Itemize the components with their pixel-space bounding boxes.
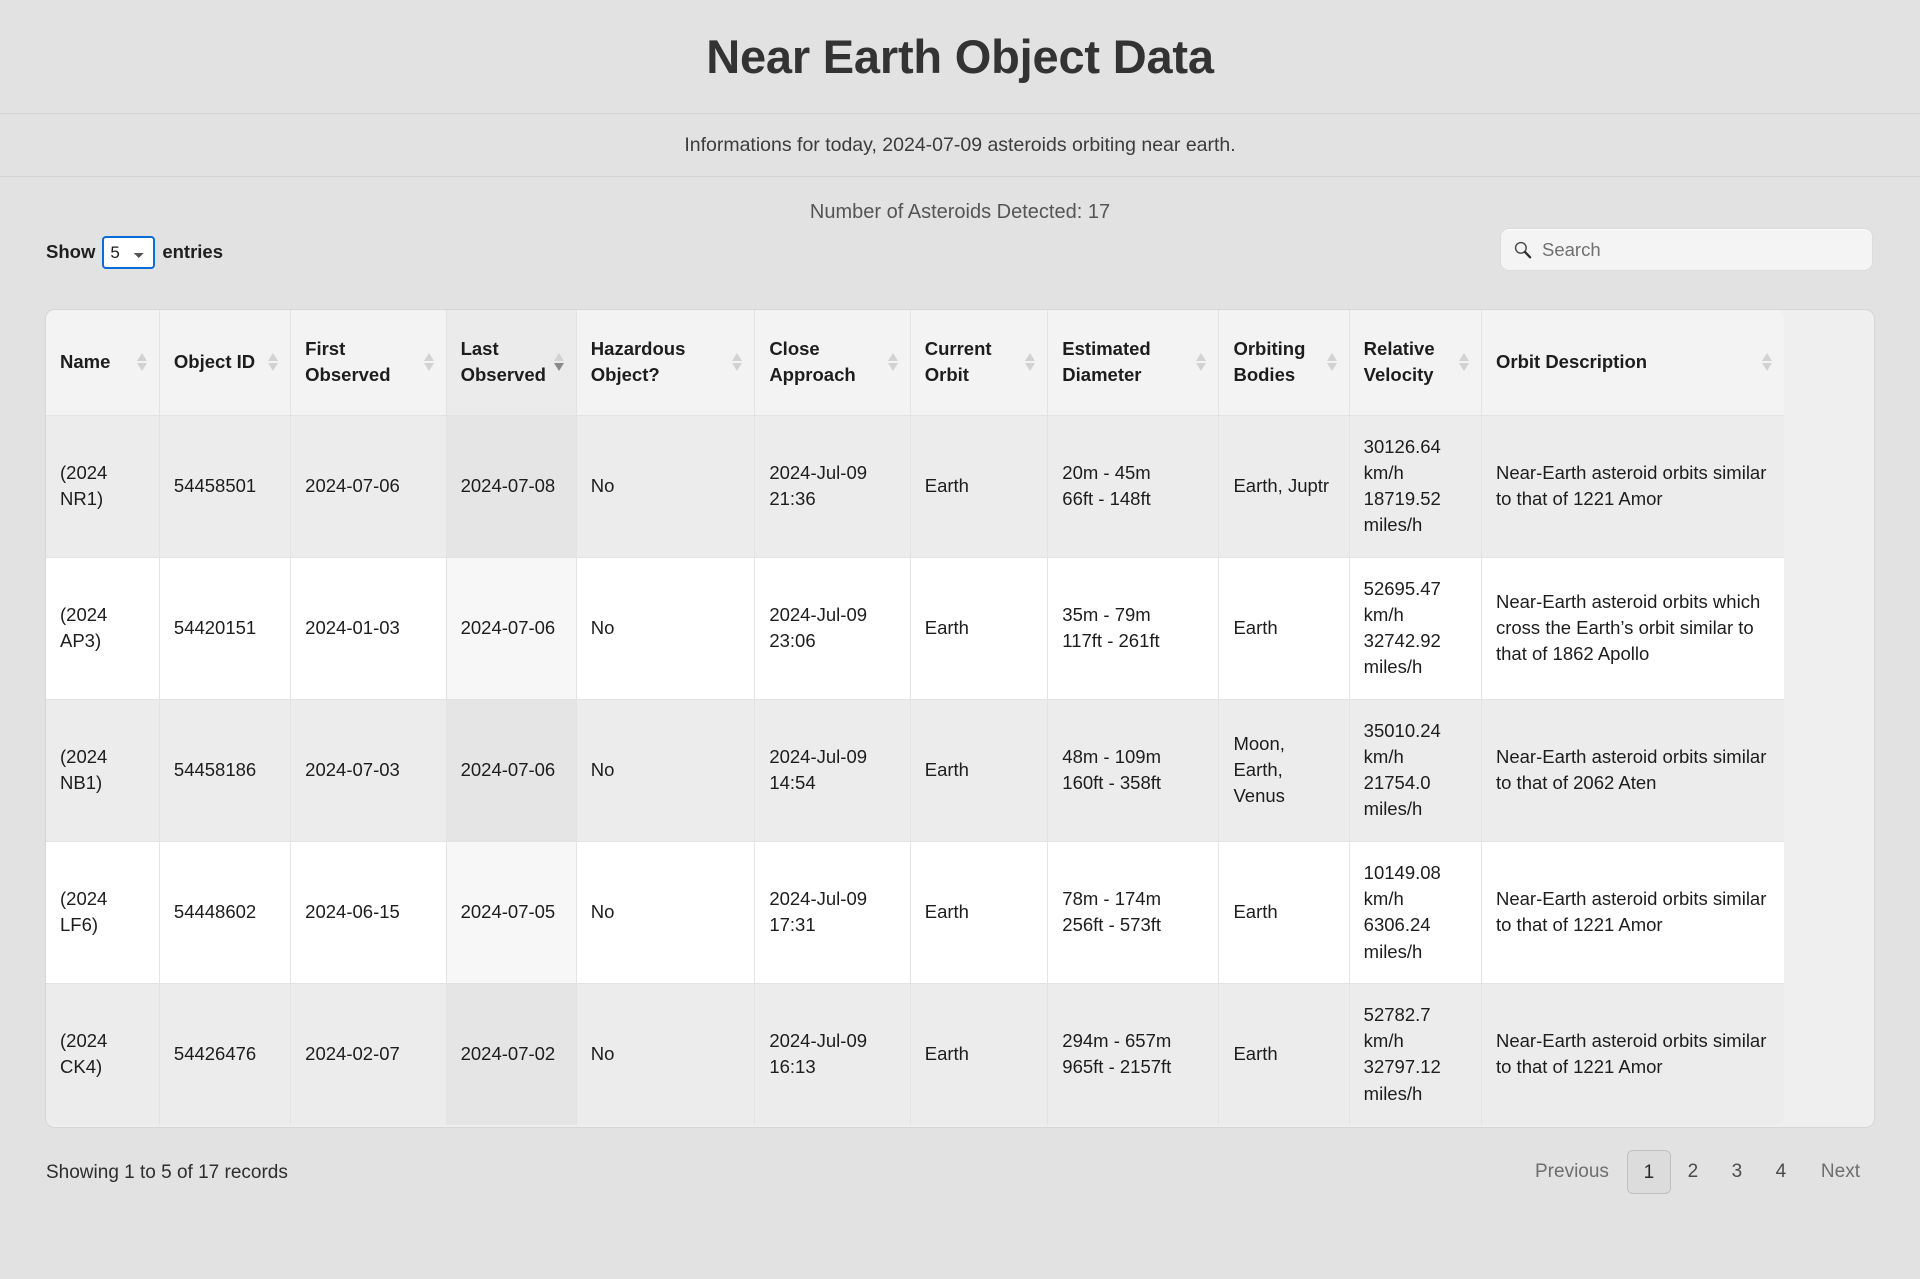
cell-orbit-description: Near-Earth asteroid orbits similar to th…	[1481, 841, 1784, 983]
cell-close-approach-line: 17:31	[769, 912, 895, 938]
records-info: Showing 1 to 5 of 17 records	[46, 1162, 288, 1184]
sort-indicator-icon	[424, 353, 435, 371]
cell-orbit-description: Near-Earth asteroid orbits similar to th…	[1481, 415, 1784, 557]
sort-indicator-icon	[888, 353, 899, 371]
cell-relative-velocity-lines: 30126.64km/h18719.52miles/h	[1364, 434, 1467, 539]
cell-current-orbit: Earth	[910, 983, 1048, 1125]
cell-first-observed: 2024-02-07	[291, 983, 446, 1125]
cell-estimated-diameter: 78m - 174m256ft - 573ft	[1048, 841, 1219, 983]
cell-close-approach-line: 23:06	[769, 628, 895, 654]
cell-relative-velocity-line: km/h	[1364, 1028, 1467, 1054]
pagination-page-4[interactable]: 4	[1759, 1150, 1803, 1194]
cell-relative-velocity: 52695.47km/h32742.92miles/h	[1349, 557, 1481, 699]
cell-relative-velocity-line: 52782.7	[1364, 1002, 1467, 1028]
cell-relative-velocity-line: 18719.52	[1364, 486, 1467, 512]
cell-estimated-diameter-line: 256ft - 573ft	[1062, 912, 1204, 938]
cell-close-approach-line: 16:13	[769, 1054, 895, 1080]
column-label: Orbiting Bodies	[1233, 338, 1305, 385]
column-label: Last Observed	[461, 338, 546, 385]
cell-orbit-description: Near-Earth asteroid orbits which cross t…	[1481, 557, 1784, 699]
cell-close-approach-line: 21:36	[769, 486, 895, 512]
cell-orbiting-bodies: Earth	[1219, 557, 1349, 699]
cell-estimated-diameter-line: 160ft - 358ft	[1062, 770, 1204, 796]
cell-close-approach-line: 2024-Jul-09	[769, 460, 895, 486]
column-label: Orbit Description	[1496, 351, 1647, 372]
column-header-name[interactable]: Name	[46, 310, 159, 415]
table-row: (2024 NR1)544585012024-07-062024-07-08No…	[46, 415, 1784, 557]
cell-current-orbit: Earth	[910, 841, 1048, 983]
cell-close-approach-line: 2024-Jul-09	[769, 744, 895, 770]
cell-close-approach: 2024-Jul-0923:06	[755, 557, 910, 699]
cell-first-observed: 2024-06-15	[291, 841, 446, 983]
cell-last-observed: 2024-07-02	[446, 983, 576, 1125]
cell-close-approach: 2024-Jul-0916:13	[755, 983, 910, 1125]
cell-relative-velocity-line: 10149.08	[1364, 860, 1467, 886]
page-subheader: Informations for today, 2024-07-09 aster…	[0, 114, 1920, 177]
cell-relative-velocity-line: km/h	[1364, 602, 1467, 628]
cell-close-approach-lines: 2024-Jul-0917:31	[769, 886, 895, 939]
table-row: (2024 LF6)544486022024-06-152024-07-05No…	[46, 841, 1784, 983]
pagination-page-2[interactable]: 2	[1671, 1150, 1715, 1194]
cell-last-observed: 2024-07-08	[446, 415, 576, 557]
column-label: Object ID	[174, 351, 255, 372]
asteroid-count: Number of Asteroids Detected: 17	[0, 177, 1920, 224]
cell-relative-velocity-line: miles/h	[1364, 796, 1467, 822]
sort-indicator-icon	[1762, 353, 1773, 371]
cell-name: (2024 CK4)	[46, 983, 159, 1125]
cell-orbiting-bodies: Moon, Earth, Venus	[1219, 699, 1349, 841]
cell-close-approach: 2024-Jul-0917:31	[755, 841, 910, 983]
cell-name: (2024 NB1)	[46, 699, 159, 841]
pagination-page-3[interactable]: 3	[1715, 1150, 1759, 1194]
column-label: Hazardous Object?	[591, 338, 686, 385]
cell-relative-velocity-lines: 10149.08km/h6306.24miles/h	[1364, 860, 1467, 965]
cell-last-observed: 2024-07-06	[446, 557, 576, 699]
table-header: Name Object ID First Observed Last Obser…	[46, 310, 1784, 415]
table-scroll-container[interactable]: Name Object ID First Observed Last Obser…	[45, 309, 1875, 1128]
cell-object-id: 54458501	[159, 415, 290, 557]
cell-close-approach-line: 2024-Jul-09	[769, 886, 895, 912]
search-input[interactable]	[1540, 238, 1860, 262]
cell-close-approach: 2024-Jul-0914:54	[755, 699, 910, 841]
cell-relative-velocity-line: 32742.92	[1364, 628, 1467, 654]
cell-close-approach: 2024-Jul-0921:36	[755, 415, 910, 557]
page-root: Near Earth Object Data Informations for …	[0, 0, 1920, 1279]
cell-name: (2024 AP3)	[46, 557, 159, 699]
cell-estimated-diameter-line: 35m - 79m	[1062, 602, 1204, 628]
sort-indicator-icon	[732, 353, 743, 371]
search-box[interactable]	[1500, 228, 1873, 271]
cell-close-approach-lines: 2024-Jul-0914:54	[769, 744, 895, 797]
pagination-page-1[interactable]: 1	[1627, 1150, 1671, 1194]
sort-indicator-icon	[1025, 353, 1036, 371]
cell-hazardous: No	[576, 699, 755, 841]
pagination-previous[interactable]: Previous	[1521, 1150, 1627, 1194]
cell-estimated-diameter-line: 294m - 657m	[1062, 1028, 1204, 1054]
cell-first-observed: 2024-01-03	[291, 557, 446, 699]
table-row: (2024 CK4)544264762024-02-072024-07-02No…	[46, 983, 1784, 1125]
cell-relative-velocity-line: km/h	[1364, 744, 1467, 770]
cell-estimated-diameter-lines: 35m - 79m117ft - 261ft	[1062, 602, 1204, 655]
column-header-relative-velocity[interactable]: Relative Velocity	[1349, 310, 1481, 415]
cell-current-orbit: Earth	[910, 699, 1048, 841]
column-header-first-observed[interactable]: First Observed	[291, 310, 446, 415]
column-label: Relative Velocity	[1364, 338, 1435, 385]
page-title: Near Earth Object Data	[706, 29, 1214, 84]
column-header-orbit-description[interactable]: Orbit Description	[1481, 310, 1784, 415]
cell-relative-velocity: 10149.08km/h6306.24miles/h	[1349, 841, 1481, 983]
cell-estimated-diameter-line: 20m - 45m	[1062, 460, 1204, 486]
cell-last-observed: 2024-07-06	[446, 699, 576, 841]
cell-relative-velocity-lines: 35010.24km/h21754.0miles/h	[1364, 718, 1467, 823]
column-label: Estimated Diameter	[1062, 338, 1150, 385]
cell-orbiting-bodies: Earth	[1219, 983, 1349, 1125]
cell-current-orbit: Earth	[910, 557, 1048, 699]
table-body: (2024 NR1)544585012024-07-062024-07-08No…	[46, 415, 1784, 1125]
cell-estimated-diameter: 294m - 657m965ft - 2157ft	[1048, 983, 1219, 1125]
cell-last-observed: 2024-07-05	[446, 841, 576, 983]
column-label: Name	[60, 351, 110, 372]
neo-data-table: Name Object ID First Observed Last Obser…	[46, 310, 1784, 1125]
cell-close-approach-line: 14:54	[769, 770, 895, 796]
cell-orbit-description: Near-Earth asteroid orbits similar to th…	[1481, 699, 1784, 841]
cell-current-orbit: Earth	[910, 415, 1048, 557]
column-header-last-observed[interactable]: Last Observed	[446, 310, 576, 415]
column-label: First Observed	[305, 338, 390, 385]
cell-estimated-diameter-line: 48m - 109m	[1062, 744, 1204, 770]
cell-close-approach-lines: 2024-Jul-0923:06	[769, 602, 895, 655]
page-length-select[interactable]: 5 10 25 50 100	[102, 236, 155, 269]
cell-relative-velocity-line: miles/h	[1364, 654, 1467, 680]
table-row: (2024 NB1)544581862024-07-032024-07-06No…	[46, 699, 1784, 841]
table-footer: Showing 1 to 5 of 17 records Previous 1 …	[0, 1128, 1920, 1214]
search-icon	[1513, 240, 1532, 259]
cell-close-approach-lines: 2024-Jul-0921:36	[769, 460, 895, 513]
cell-object-id: 54448602	[159, 841, 290, 983]
cell-name: (2024 NR1)	[46, 415, 159, 557]
entries-label: entries	[162, 243, 223, 262]
sort-indicator-icon	[1459, 353, 1470, 371]
cell-hazardous: No	[576, 983, 755, 1125]
cell-relative-velocity-lines: 52695.47km/h32742.92miles/h	[1364, 576, 1467, 681]
cell-relative-velocity-line: miles/h	[1364, 512, 1467, 538]
cell-relative-velocity: 52782.7km/h32797.12miles/h	[1349, 983, 1481, 1125]
cell-estimated-diameter-lines: 294m - 657m965ft - 2157ft	[1062, 1028, 1204, 1081]
cell-object-id: 54420151	[159, 557, 290, 699]
table-row: (2024 AP3)544201512024-01-032024-07-06No…	[46, 557, 1784, 699]
cell-estimated-diameter-lines: 78m - 174m256ft - 573ft	[1062, 886, 1204, 939]
column-header-hazardous[interactable]: Hazardous Object?	[576, 310, 755, 415]
cell-relative-velocity-line: km/h	[1364, 886, 1467, 912]
cell-relative-velocity-lines: 52782.7km/h32797.12miles/h	[1364, 1002, 1467, 1107]
page-length-control: Show 5 10 25 50 100 entries	[46, 236, 223, 269]
cell-estimated-diameter-line: 66ft - 148ft	[1062, 486, 1204, 512]
column-header-object-id[interactable]: Object ID	[159, 310, 290, 415]
cell-first-observed: 2024-07-03	[291, 699, 446, 841]
cell-relative-velocity-line: 21754.0	[1364, 770, 1467, 796]
cell-close-approach-line: 2024-Jul-09	[769, 602, 895, 628]
sort-indicator-icon	[1327, 353, 1338, 371]
cell-orbiting-bodies: Earth	[1219, 841, 1349, 983]
table-header-row: Name Object ID First Observed Last Obser…	[46, 310, 1784, 415]
cell-relative-velocity-line: 30126.64	[1364, 434, 1467, 460]
cell-hazardous: No	[576, 841, 755, 983]
column-label: Close Approach	[769, 338, 855, 385]
cell-close-approach-line: 2024-Jul-09	[769, 1028, 895, 1054]
cell-estimated-diameter: 20m - 45m66ft - 148ft	[1048, 415, 1219, 557]
cell-estimated-diameter: 48m - 109m160ft - 358ft	[1048, 699, 1219, 841]
sort-indicator-icon	[268, 353, 279, 371]
cell-relative-velocity-line: miles/h	[1364, 1081, 1467, 1107]
column-header-close-approach[interactable]: Close Approach	[755, 310, 910, 415]
cell-relative-velocity-line: 35010.24	[1364, 718, 1467, 744]
cell-orbit-description: Near-Earth asteroid orbits similar to th…	[1481, 983, 1784, 1125]
cell-relative-velocity-line: km/h	[1364, 460, 1467, 486]
cell-close-approach-lines: 2024-Jul-0916:13	[769, 1028, 895, 1081]
show-label: Show	[46, 243, 95, 262]
column-label: Current Orbit	[925, 338, 992, 385]
cell-estimated-diameter: 35m - 79m117ft - 261ft	[1048, 557, 1219, 699]
cell-orbiting-bodies: Earth, Juptr	[1219, 415, 1349, 557]
cell-estimated-diameter-lines: 48m - 109m160ft - 358ft	[1062, 744, 1204, 797]
cell-estimated-diameter-line: 117ft - 261ft	[1062, 628, 1204, 654]
page-header: Near Earth Object Data	[0, 0, 1920, 114]
cell-relative-velocity-line: miles/h	[1364, 939, 1467, 965]
cell-estimated-diameter-line: 78m - 174m	[1062, 886, 1204, 912]
column-header-orbiting-bodies[interactable]: Orbiting Bodies	[1219, 310, 1349, 415]
column-header-current-orbit[interactable]: Current Orbit	[910, 310, 1048, 415]
sort-indicator-icon	[1196, 353, 1207, 371]
cell-hazardous: No	[576, 415, 755, 557]
cell-estimated-diameter-line: 965ft - 2157ft	[1062, 1054, 1204, 1080]
table-controls: Show 5 10 25 50 100 entries	[0, 224, 1920, 298]
column-header-estimated-diameter[interactable]: Estimated Diameter	[1048, 310, 1219, 415]
cell-relative-velocity: 35010.24km/h21754.0miles/h	[1349, 699, 1481, 841]
cell-first-observed: 2024-07-06	[291, 415, 446, 557]
sort-indicator-desc-icon	[554, 353, 565, 371]
cell-relative-velocity: 30126.64km/h18719.52miles/h	[1349, 415, 1481, 557]
page-subtitle: Informations for today, 2024-07-09 aster…	[684, 134, 1235, 157]
cell-name: (2024 LF6)	[46, 841, 159, 983]
cell-hazardous: No	[576, 557, 755, 699]
sort-indicator-icon	[137, 353, 148, 371]
cell-object-id: 54426476	[159, 983, 290, 1125]
cell-estimated-diameter-lines: 20m - 45m66ft - 148ft	[1062, 460, 1204, 513]
cell-object-id: 54458186	[159, 699, 290, 841]
cell-relative-velocity-line: 32797.12	[1364, 1054, 1467, 1080]
pagination-next[interactable]: Next	[1803, 1150, 1874, 1194]
cell-relative-velocity-line: 6306.24	[1364, 912, 1467, 938]
pagination: Previous 1 2 3 4 Next	[1521, 1150, 1874, 1194]
cell-relative-velocity-line: 52695.47	[1364, 576, 1467, 602]
